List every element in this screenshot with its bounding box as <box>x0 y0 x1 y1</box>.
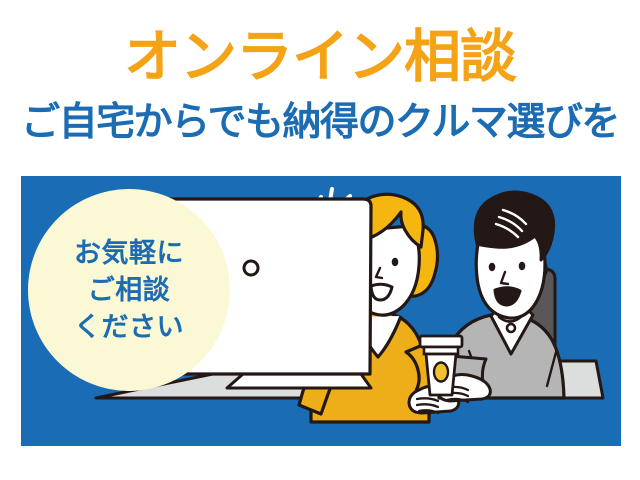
badge-line-3: ください <box>74 309 184 346</box>
man-eye-left <box>489 263 496 271</box>
badge-line-1: お気軽に <box>74 235 184 272</box>
woman-eye-right <box>392 258 399 266</box>
shirt-button <box>507 324 515 332</box>
laptop-logo-icon <box>244 261 258 275</box>
page-subtitle: ご自宅からでも納得のクルマ選びを <box>0 99 640 147</box>
badge-line-2: ご相談 <box>88 272 171 309</box>
online-consultation-banner: オンライン相談 ご自宅からでも納得のクルマ選びを <box>0 0 640 480</box>
status-badge: お気軽に ご相談 ください <box>28 189 230 391</box>
headline-block: オンライン相談 ご自宅からでも納得のクルマ選びを <box>0 0 640 172</box>
page-title: オンライン相談 <box>0 26 640 88</box>
man-eye-right <box>519 262 526 270</box>
illustration-panel: お気軽に ご相談 ください <box>21 176 621 446</box>
cup-logo-icon <box>434 363 448 382</box>
